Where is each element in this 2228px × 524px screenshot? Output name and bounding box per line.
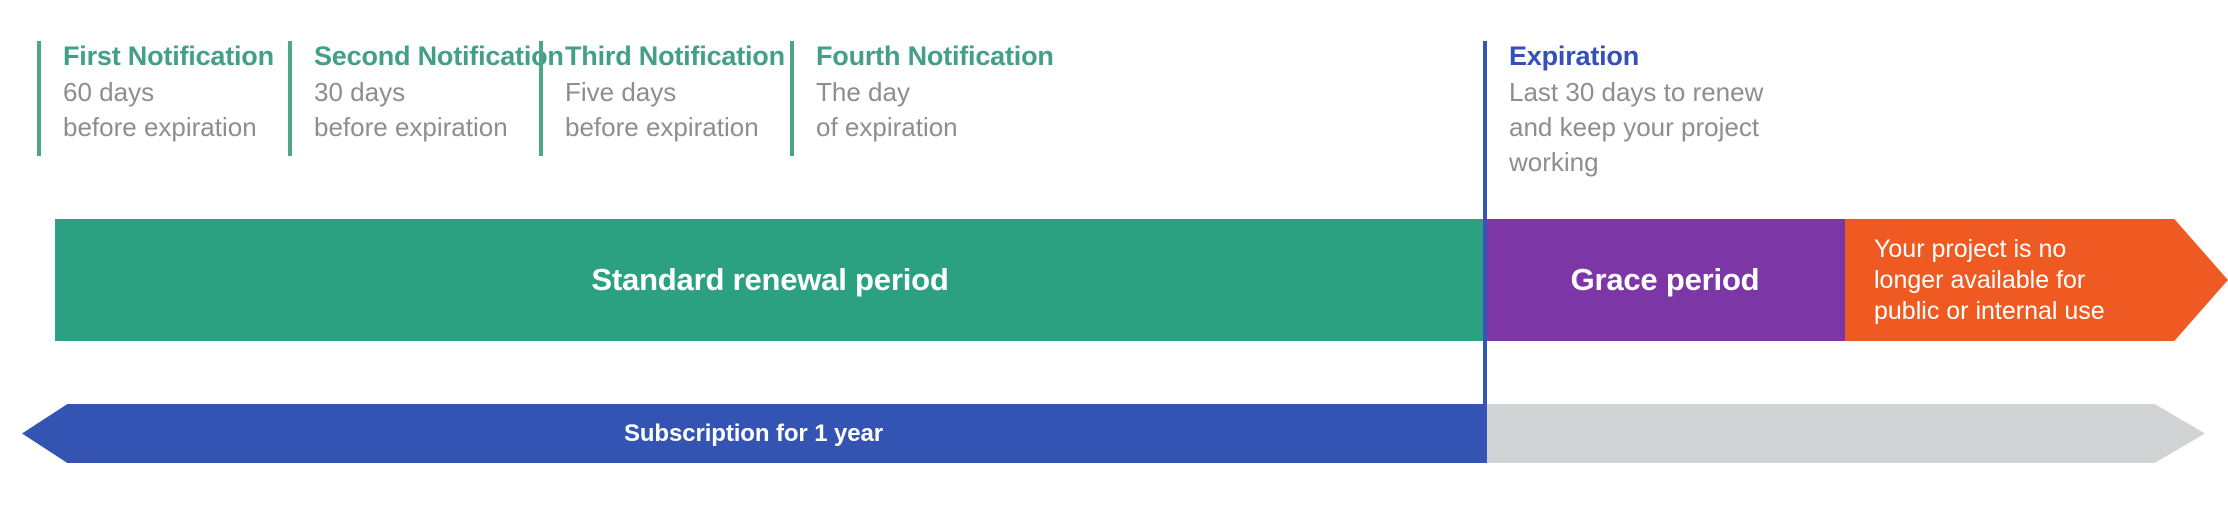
grace-period-label: Grace period: [1571, 262, 1760, 298]
notification-title: First Notification: [63, 41, 287, 71]
notification-title: Fourth Notification: [816, 41, 1040, 71]
standard-renewal-period-label: Standard renewal period: [591, 262, 948, 298]
notification-body-line-2: before expiration: [63, 110, 287, 145]
notification-column-second: Second Notification 30 days before expir…: [288, 41, 538, 156]
notification-column-expiration: Expiration Last 30 days to renew and kee…: [1483, 41, 1803, 169]
notification-body: The day of expiration: [816, 75, 1040, 145]
subscription-active-label: Subscription for 1 year: [624, 420, 883, 448]
notification-body: 60 days before expiration: [63, 75, 287, 145]
notification-title: Third Notification: [565, 41, 789, 71]
notification-body: Five days before expiration: [565, 75, 789, 145]
notification-body-line-1: The day: [816, 75, 1040, 110]
notification-body-line-2: and keep your project: [1509, 110, 1803, 145]
notification-body: 30 days before expiration: [314, 75, 538, 145]
project-unavailable-line-1: Your project is no: [1874, 234, 2105, 265]
subscription-inactive-segment: [1487, 404, 2205, 463]
notification-body-line-1: 30 days: [314, 75, 538, 110]
project-unavailable-line-3: public or internal use: [1874, 296, 2105, 327]
notification-body-line-2: of expiration: [816, 110, 1040, 145]
notification-title: Expiration: [1509, 41, 1803, 71]
notification-body: Last 30 days to renew and keep your proj…: [1509, 75, 1803, 180]
period-band: Standard renewal period Grace period You…: [0, 219, 2228, 341]
notification-body-line-1: Last 30 days to renew: [1509, 75, 1803, 110]
grace-period-segment: Grace period: [1485, 219, 1845, 341]
subscription-active-segment: Subscription for 1 year: [22, 404, 1485, 463]
notification-columns: First Notification 60 days before expira…: [0, 0, 2228, 218]
notification-body-line-1: 60 days: [63, 75, 287, 110]
notification-title: Second Notification: [314, 41, 538, 71]
notification-column-fourth: Fourth Notification The day of expiratio…: [790, 41, 1040, 156]
expiration-guide-line: [1483, 41, 1487, 463]
project-unavailable-line-2: longer available for: [1874, 265, 2105, 296]
notification-column-third: Third Notification Five days before expi…: [539, 41, 789, 156]
subscription-lifecycle-diagram: First Notification 60 days before expira…: [0, 0, 2228, 524]
notification-body-line-3: working: [1509, 145, 1803, 180]
standard-renewal-period-segment: Standard renewal period: [55, 219, 1485, 341]
notification-body-line-2: before expiration: [314, 110, 538, 145]
notification-body-line-1: Five days: [565, 75, 789, 110]
project-unavailable-segment: Your project is no longer available for …: [1845, 219, 2228, 341]
notification-column-first: First Notification 60 days before expira…: [37, 41, 287, 156]
project-unavailable-note: Your project is no longer available for …: [1874, 234, 2105, 327]
notification-body-line-2: before expiration: [565, 110, 789, 145]
subscription-timeline-bar: Subscription for 1 year: [0, 404, 2228, 463]
